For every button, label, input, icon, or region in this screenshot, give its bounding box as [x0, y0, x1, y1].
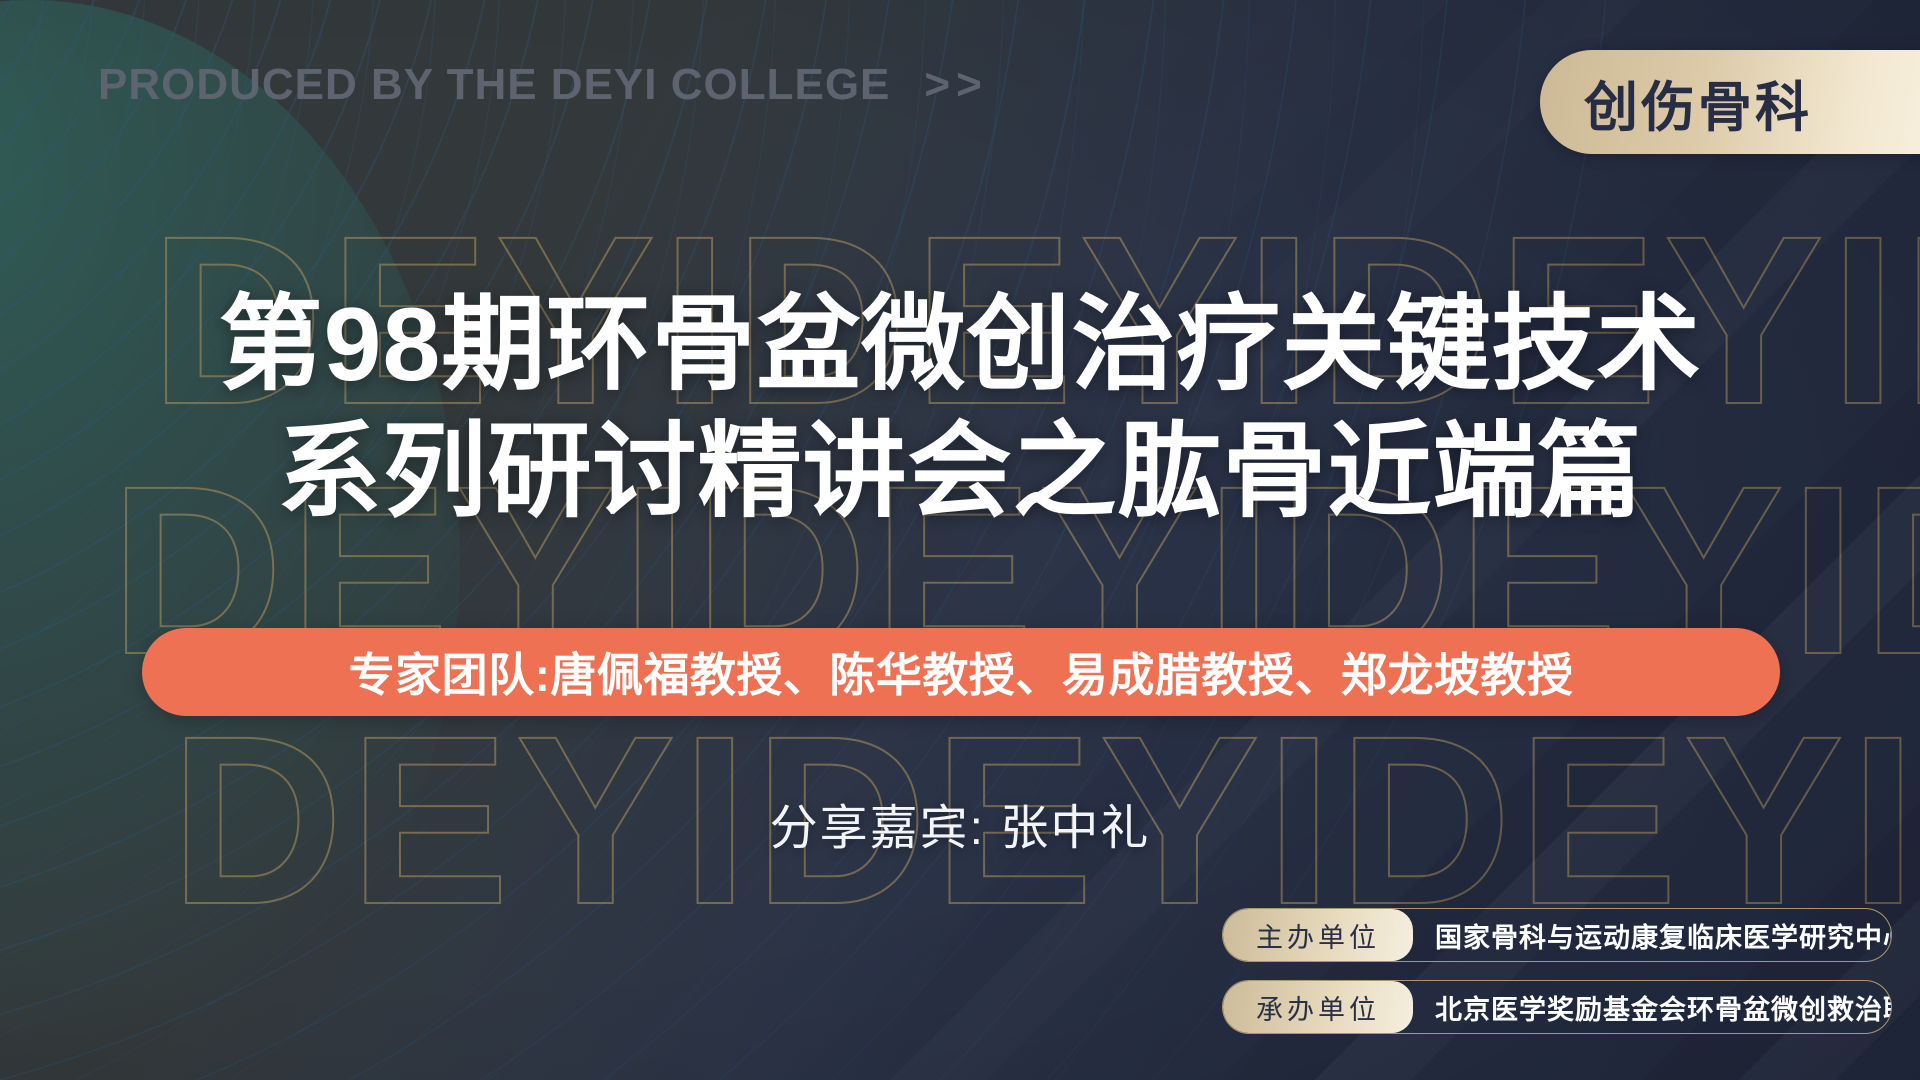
- organizer-value-coorganizer: 北京医学奖励基金会环骨盆微创救治联盟: [1413, 981, 1892, 1033]
- title-line-2: 系列研讨精讲会之肱骨近端篇: [0, 409, 1920, 536]
- specialty-badge-label: 创伤骨科: [1584, 63, 1812, 142]
- specialty-badge: 创伤骨科: [1540, 50, 1920, 154]
- organizer-list: 主办单位 国家骨科与运动康复临床医学研究中心 承办单位 北京医学奖励基金会环骨盆…: [1222, 908, 1892, 1034]
- organizer-badge-coorganizer: 承办单位 北京医学奖励基金会环骨盆微创救治联盟: [1222, 980, 1892, 1034]
- double-chevron-right-icon: >>: [924, 60, 987, 110]
- organizer-tag-coorganizer: 承办单位: [1223, 981, 1413, 1033]
- title-line-1: 第98期环骨盆微创治疗关键技术: [0, 282, 1920, 409]
- page-title: 第98期环骨盆微创治疗关键技术 系列研讨精讲会之肱骨近端篇: [0, 282, 1920, 536]
- eyebrow: PRODUCED BY THE DEYI COLLEGE >>: [98, 60, 988, 110]
- expert-team-pill: 专家团队:唐佩福教授、陈华教授、易成腊教授、郑龙坡教授: [142, 628, 1780, 716]
- organizer-value-host: 国家骨科与运动康复临床医学研究中心: [1413, 909, 1892, 961]
- organizer-badge-host: 主办单位 国家骨科与运动康复临床医学研究中心: [1222, 908, 1892, 962]
- poster-canvas: DEYIDEYIDEYIDEYI DEYIDEYIDEYIDEYI DEYIDE…: [0, 0, 1920, 1080]
- guest-speaker-line: 分享嘉宾: 张中礼: [0, 788, 1920, 858]
- expert-team-text: 专家团队:唐佩福教授、陈华教授、易成腊教授、郑龙坡教授: [349, 639, 1574, 705]
- organizer-tag-host: 主办单位: [1223, 909, 1413, 961]
- eyebrow-text: PRODUCED BY THE DEYI COLLEGE: [98, 60, 890, 110]
